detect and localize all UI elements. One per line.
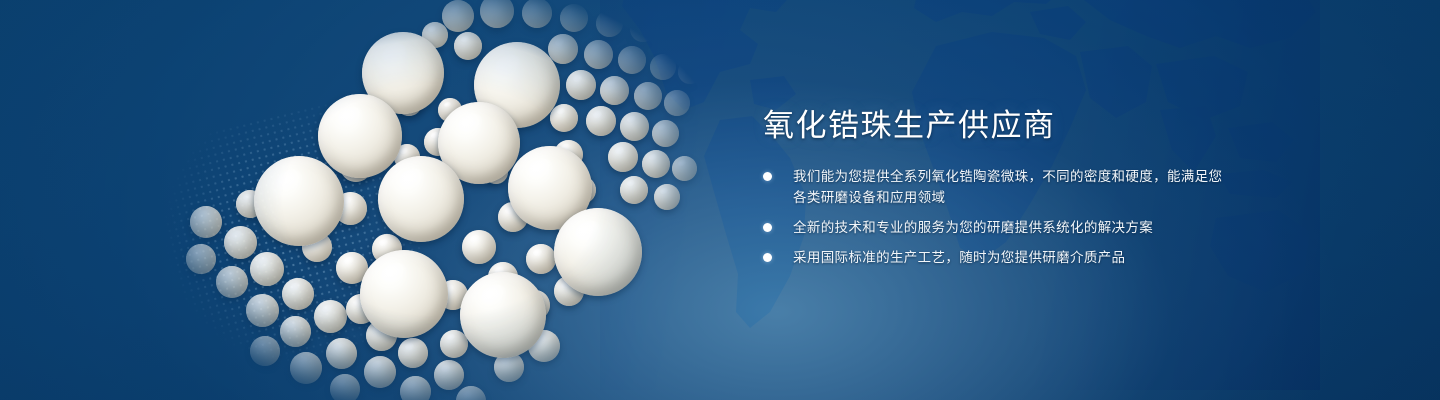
zirconia-ceramic-beads-photo [150,0,730,400]
bullet-dot-icon [763,172,772,181]
banner-copy: 氧化锆珠生产供应商 我们能为您提供全系列氧化锆陶瓷微珠，不同的密度和硬度，能满足… [763,108,1233,268]
list-item: 我们能为您提供全系列氧化锆陶瓷微珠，不同的密度和硬度，能满足您各类研磨设备和应用… [763,166,1233,208]
page-title: 氧化锆珠生产供应商 [763,108,1233,144]
bullet-dot-icon [763,223,772,232]
hero-banner: 氧化锆珠生产供应商 我们能为您提供全系列氧化锆陶瓷微珠，不同的密度和硬度，能满足… [0,0,1440,400]
feature-list: 我们能为您提供全系列氧化锆陶瓷微珠，不同的密度和硬度，能满足您各类研磨设备和应用… [763,166,1233,268]
bullet-dot-icon [763,253,772,262]
list-item-text: 采用国际标准的生产工艺，随时为您提供研磨介质产品 [793,250,1125,265]
list-item-text: 全新的技术和专业的服务为您的研磨提供系统化的解决方案 [793,220,1153,235]
list-item-text: 我们能为您提供全系列氧化锆陶瓷微珠，不同的密度和硬度，能满足您各类研磨设备和应用… [793,169,1222,205]
list-item: 采用国际标准的生产工艺，随时为您提供研磨介质产品 [763,247,1233,268]
list-item: 全新的技术和专业的服务为您的研磨提供系统化的解决方案 [763,217,1233,238]
